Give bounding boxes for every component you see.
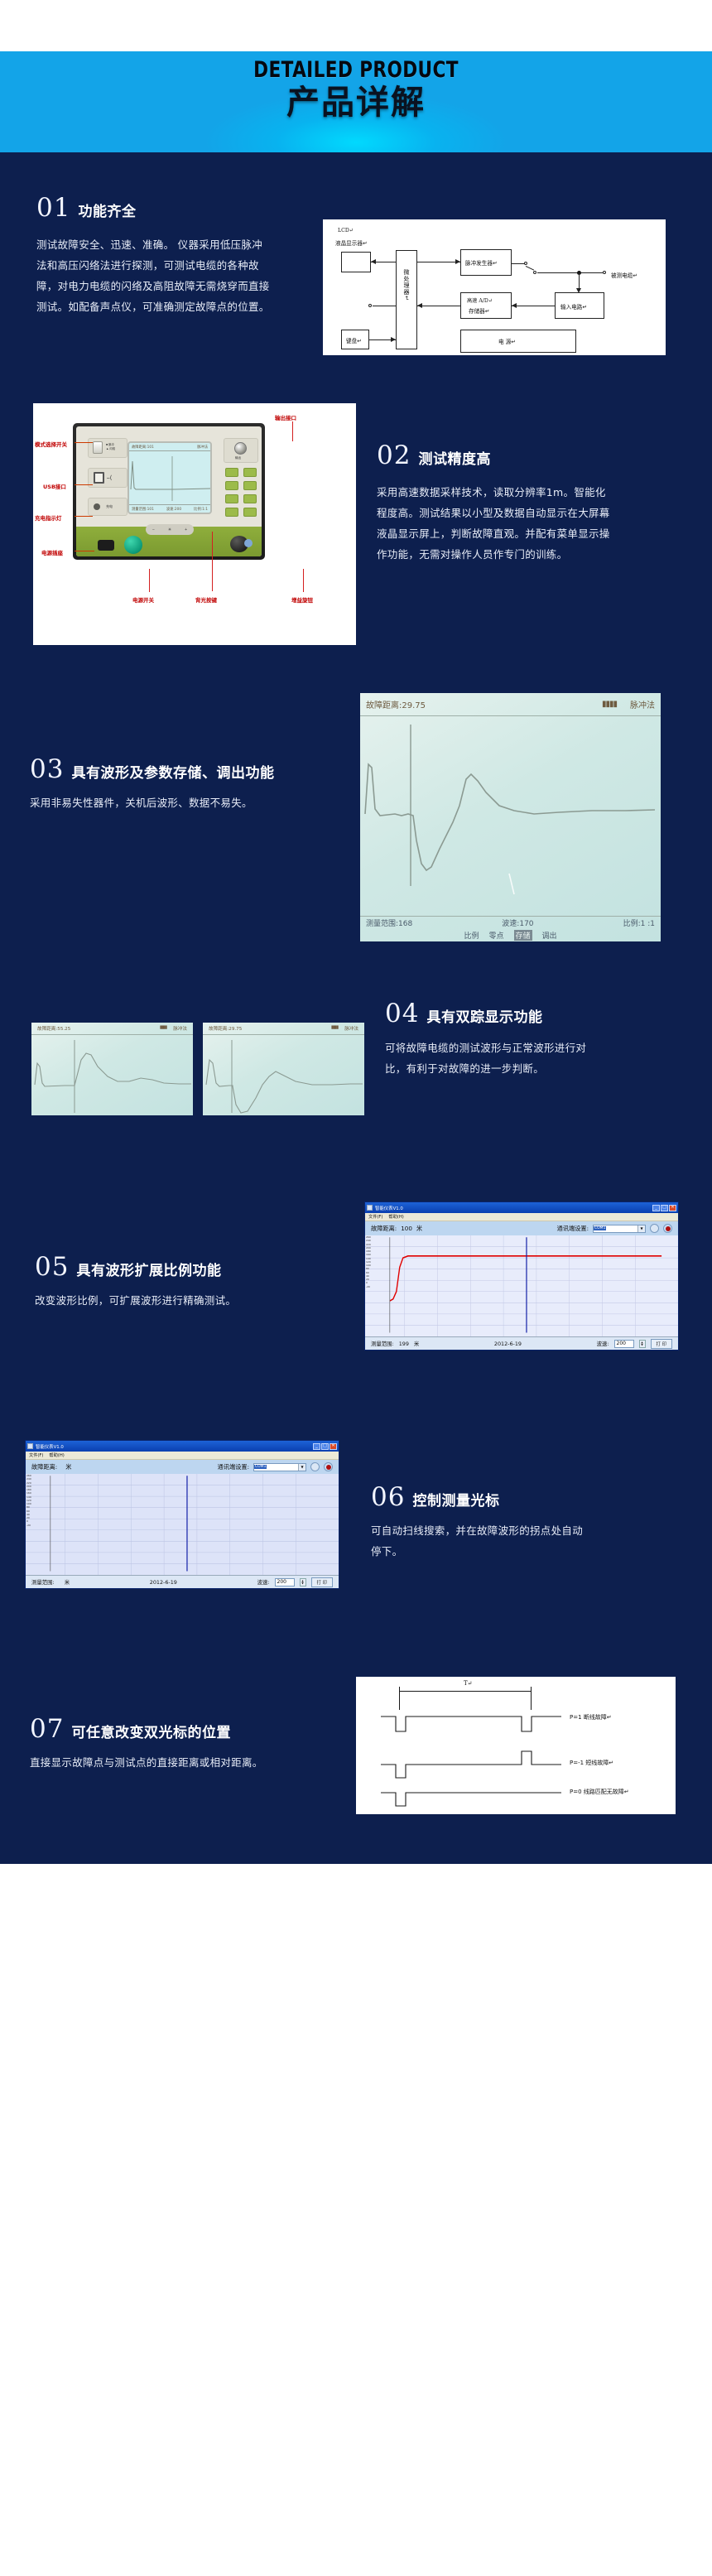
rocker-center-icon: ✳ — [168, 527, 171, 532]
lcd-single-fault: 故障距离:29.75 — [366, 698, 426, 710]
pulse-row-3-label: P=0 线路匹配无故障↵ — [570, 1788, 629, 1796]
section-02-text: 02 测试精度高 采用高速数据采样技术，读取分辨率1m。智能化程度高。测试结果以… — [356, 403, 679, 565]
lcd-single-mode: 脉冲法 — [630, 698, 655, 710]
pulse-row-1-label: P=1 断线故障↵ — [570, 1713, 612, 1721]
window-06-menubar: 文件(F) 帮助(H) — [26, 1452, 339, 1460]
section-05-number: 05 — [35, 1254, 69, 1280]
annotation-charge-led: 充电指示灯 — [35, 513, 62, 522]
section-04-heading: 具有双踪显示功能 — [426, 1011, 542, 1025]
pulse-diagram: T↵ P=1 断线故障↵ — [356, 1677, 676, 1814]
section-03: 03 具有波形及参数存储、调出功能 采用非易失性器件，关机后波形、数据不易失。 … — [0, 645, 712, 941]
window-05-record-button[interactable] — [663, 1224, 672, 1233]
annotation-output-port: 输出接口 — [275, 413, 296, 421]
lcd-dual-right-fault: 故障距离:29.75 — [209, 1025, 242, 1032]
keypad-key-2[interactable] — [243, 468, 257, 477]
window-05-close-button[interactable]: ✕ — [669, 1205, 676, 1211]
lcd-waveform-dual-right: 故障距离:29.75 ▮▮▮▮ 脉冲法 — [203, 1023, 364, 1115]
lcd-single-menu: 比例 零点 存储 调出 — [360, 929, 661, 941]
bd-line-pulsegen-out — [512, 263, 525, 264]
window-06-port-select[interactable]: COM1 ▼ — [253, 1463, 306, 1471]
device-front-panel: ■ 脉冲▲ 闪络 ⎯⟨ 充电 故障距离:101 — [33, 403, 356, 645]
section-03-title-line: 03 具有波形及参数存储、调出功能 — [30, 757, 360, 782]
lcd-dual-right-bars: ▮▮▮▮ — [331, 1025, 338, 1032]
annotation-power-switch: 电源开关 — [132, 595, 154, 604]
device-lcd-fault-text: 故障距离:101 — [132, 445, 154, 449]
window-05-range-unit: 米 — [414, 1340, 419, 1347]
section-01-text: 01 功能齐全 测试故障安全、迅速、准确。 仪器采用低压脉冲法和高压闪络法进行探… — [0, 195, 323, 317]
section-01-body: 测试故障安全、迅速、准确。 仪器采用低压脉冲法和高压闪络法进行探测，可测试电缆的… — [36, 234, 271, 317]
section-02-number: 02 — [377, 443, 411, 469]
annotation-usb-port: USB接口 — [43, 482, 66, 490]
bd-lcd-box — [341, 252, 371, 272]
pulse-trace-row-2 — [356, 1746, 676, 1784]
bd-line-node-to-cable — [580, 272, 603, 273]
section-07-title-line: 07 可任意改变双光标的位置 — [30, 1717, 356, 1742]
section-02: ■ 脉冲▲ 闪络 ⎯⟨ 充电 故障距离:101 — [0, 355, 712, 645]
window-06-status-indicator — [310, 1462, 320, 1471]
section-04-title-line: 04 具有双踪显示功能 — [385, 1001, 691, 1027]
section-05-body: 改变波形比例，可扩展波形进行精确测试。 — [35, 1290, 293, 1311]
bd-arrow-input-circuit — [576, 288, 581, 293]
window-06-controls: _ □ ✕ — [313, 1443, 337, 1450]
section-02-title-line: 02 测试精度高 — [377, 443, 679, 469]
chevron-down-icon-06: ▼ — [298, 1464, 305, 1471]
annotation-line-charge-led — [75, 516, 93, 517]
device-lcd-range: 测量范围:101 — [132, 507, 154, 511]
section-07-body: 直接显示故障点与测试点的直接距离或相对距离。 — [30, 1752, 278, 1773]
annotation-line-power-socket — [75, 551, 94, 551]
window-05-menu-help[interactable]: 帮助(H) — [388, 1214, 403, 1220]
bd-cable-terminal — [603, 271, 606, 274]
product-detail-page: DETAILED PRODUCT 产品详解 01 功能齐全 测试故障安全、迅速、… — [0, 0, 712, 1864]
window-05-toolbar: 故障距离: 100 米 通讯端设置: COM1 ▼ — [365, 1221, 678, 1235]
gain-knob-indicator — [244, 539, 253, 547]
device-lcd-mode: 脉冲法 — [197, 445, 208, 449]
window-06-toolbar: 故障距离: 米 通讯端设置: COM1 ▼ — [26, 1460, 339, 1474]
window-06-range-label: 测量范围: — [31, 1578, 55, 1586]
annotation-backlight-key: 背光按键 — [195, 595, 217, 604]
pulse-t-tick-left — [399, 1687, 400, 1697]
device-lcd-header: 故障距离:101 脉冲法 — [129, 443, 210, 451]
pulse-trace-row-1 — [356, 1707, 676, 1743]
window-05-app-icon — [367, 1205, 373, 1211]
bd-switch-contact-a — [524, 262, 527, 265]
window-05-fault-label: 故障距离: — [371, 1225, 397, 1233]
device-lcd-ratio: 比例:1:1 — [194, 507, 208, 511]
banner-chinese-title: 产品详解 — [0, 86, 712, 119]
lcd-menu-ratio[interactable]: 比例 — [464, 930, 479, 941]
window-05-controls: _ □ ✕ — [652, 1205, 676, 1211]
charge-led — [94, 503, 100, 510]
section-06-number: 06 — [371, 1485, 405, 1510]
annotation-line-output-port — [292, 421, 293, 441]
window-05-y-axis-ticks: 260240220200180160140120100806040200-20 — [366, 1235, 371, 1288]
software-window-06: 智能仪表V1.0 _ □ ✕ 文件(F) 帮助(H) 故 — [25, 1440, 339, 1589]
section-05: 05 具有波形扩展比例功能 改变波形比例，可扩展波形进行精确测试。 智能仪表V1… — [0, 1115, 712, 1351]
bd-line-switch-to-node — [537, 272, 580, 273]
annotation-power-socket: 电源插座 — [41, 548, 63, 556]
window-05-chart — [365, 1235, 678, 1336]
section-05-heading: 具有波形扩展比例功能 — [76, 1264, 221, 1278]
bd-lcd-cn-label: 液晶显示器↵ — [335, 238, 368, 247]
output-port-bnc[interactable] — [234, 442, 247, 455]
bd-arrow-cpu — [417, 303, 422, 308]
bd-cpu-label: 微处理器↵ — [402, 269, 411, 301]
charge-led-caption: 充电 — [106, 504, 113, 509]
section-07-heading: 可任意改变双光标的位置 — [71, 1726, 231, 1741]
bd-line-input-to-adc — [512, 306, 555, 306]
bd-keyboard-label: 键盘↵ — [346, 336, 362, 344]
bd-line-cpu-to-pulsegen — [417, 262, 460, 262]
window-06-record-button[interactable] — [324, 1462, 333, 1471]
window-06-date: 2012-6-19 — [150, 1579, 177, 1586]
section-06-body: 可自动扫线搜索，并在故障波形的拐点处自动停下。 — [371, 1520, 588, 1562]
usb-port-connector[interactable] — [94, 472, 104, 484]
window-06-y-axis-ticks: 260240220200180160140120100806040200-20 — [26, 1474, 31, 1527]
annotation-gain-knob: 增益旋钮 — [291, 595, 313, 604]
annotation-line-gain-knob — [303, 569, 304, 592]
window-06-speed-input[interactable]: 200 — [275, 1578, 295, 1587]
bd-line-cpu-left-stub — [373, 306, 396, 306]
window-05-print-button[interactable]: 打 印 — [651, 1339, 673, 1349]
software-window-05-wrap: 智能仪表V1.0 _ □ ✕ 文件(F) 帮助(H) 故 — [364, 1201, 679, 1351]
lcd-single: 故障距离:29.75 ▮▮▮▮ 脉冲法 — [360, 693, 661, 941]
bd-arrow-lcd — [371, 259, 376, 264]
bd-arrow-pulsegen — [455, 259, 460, 264]
window-06-titlebar[interactable]: 智能仪表V1.0 _ □ ✕ — [26, 1441, 339, 1452]
window-06-fault-unit: 米 — [65, 1463, 71, 1471]
window-05-menu-file[interactable]: 文件(F) — [368, 1214, 382, 1220]
lcd-single-waveform-chart — [360, 716, 661, 907]
section-06-heading: 控制测量光标 — [412, 1495, 499, 1509]
window-05-title: 智能仪表V1.0 — [375, 1205, 403, 1211]
lcd-waveform-single: 故障距离:29.75 ▮▮▮▮ 脉冲法 — [360, 693, 661, 941]
section-01: 01 功能齐全 测试故障安全、迅速、准确。 仪器采用低压脉冲法和高压闪络法进行探… — [0, 152, 712, 355]
window-05-port-label: 通讯端设置: — [557, 1225, 589, 1233]
window-05-fault-unit: 米 — [416, 1225, 422, 1233]
window-05-date: 2012-6-19 — [494, 1341, 522, 1347]
bd-pulsegen-label: 脉冲发生器↵ — [465, 258, 498, 267]
bd-line-adc-to-cpu — [417, 306, 460, 306]
keypad-key-1[interactable] — [225, 468, 238, 477]
window-06-plot-area[interactable]: 260240220200180160140120100806040200-20 — [26, 1474, 339, 1575]
device-lcd-waveform — [129, 451, 212, 508]
pulse-t-arrow-line — [399, 1691, 532, 1692]
keypad-key-5[interactable] — [225, 494, 238, 503]
lcd-dual-left: 故障距离:55.25 ▮▮▮▮ 脉冲法 — [31, 1023, 193, 1115]
power-socket[interactable] — [98, 540, 114, 551]
window-05-minimize-button[interactable]: _ — [652, 1205, 660, 1211]
window-06-menu-file[interactable]: 文件(F) — [29, 1452, 43, 1458]
section-05-title-line: 05 具有波形扩展比例功能 — [35, 1254, 364, 1280]
keypad-key-4[interactable] — [243, 481, 257, 490]
device-lcd-speed: 波速:200 — [166, 507, 181, 511]
bd-input-circuit-label: 输入电路↵ — [560, 302, 587, 311]
window-05-maximize-button[interactable]: □ — [661, 1205, 668, 1211]
bd-power-box — [460, 330, 576, 353]
output-port-caption: 输出 — [235, 456, 241, 460]
section-04-text: 04 具有双踪显示功能 可将故障电缆的测试波形与正常波形进行对比，有利于对故障的… — [364, 1001, 691, 1079]
window-06-port-label: 通讯端设置: — [218, 1463, 249, 1471]
annotation-line-usb-port — [75, 484, 93, 485]
section-07-number: 07 — [30, 1717, 64, 1742]
lcd-dual-right-mode: 脉冲法 — [344, 1025, 358, 1032]
bd-adc-label-2: 存储器↵ — [469, 306, 489, 315]
lcd-dual-right-waveform — [203, 1035, 364, 1115]
window-05-port-select[interactable]: COM1 ▼ — [593, 1225, 646, 1233]
bd-switch-blade — [526, 266, 534, 271]
window-06-title: 智能仪表V1.0 — [36, 1443, 64, 1450]
keypad-key-7[interactable] — [225, 508, 238, 517]
top-white-strip — [0, 0, 712, 51]
lcd-dual-left-fault: 故障距离:55.25 — [37, 1025, 70, 1032]
window-06-app-icon — [27, 1443, 33, 1449]
usb-icon: ⎯⟨ — [107, 475, 112, 481]
window-05-fault-value: 100 — [401, 1225, 412, 1232]
block-diagram: LCD↵ 液晶显示器↵ 微处理器↵ 脉冲发生器↵ 高速 A/D↵ 存储器↵ 输入… — [323, 219, 666, 355]
annotation-mode-switch: 模式选择开关 — [35, 440, 67, 448]
window-06-print-button[interactable]: 打 印 — [311, 1577, 334, 1587]
window-05-port-value: COM1 — [594, 1226, 606, 1230]
lcd-single-params: 测量范围:168 波速:170 比例:1 :1 — [360, 917, 661, 929]
software-window-06-wrap: 智能仪表V1.0 _ □ ✕ 文件(F) 帮助(H) 故 — [25, 1440, 339, 1589]
bd-cable-label: 被测电缆↵ — [611, 271, 637, 279]
bd-line-node-down — [579, 272, 580, 289]
chevron-down-icon: ▼ — [637, 1225, 645, 1232]
section-06-text: 06 控制测量光标 可自动扫线搜索，并在故障波形的拐点处自动停下。 — [339, 1440, 712, 1562]
keypad-key-6[interactable] — [243, 494, 257, 503]
window-05-range-value: 199 — [399, 1341, 409, 1347]
lcd-single-footer: 测量范围:168 波速:170 比例:1 :1 比例 零点 存储 调出 — [360, 916, 661, 941]
window-05-statusbar: 测量范围: 199 米 2012-6-19 波速: 200 ▲▼ 打 印 — [365, 1336, 678, 1350]
window-06-speed-label: 波速: — [257, 1578, 270, 1586]
window-05-plot-area[interactable]: 260240220200180160140120100806040200-20 — [365, 1235, 678, 1336]
bd-arrow-adc — [512, 303, 517, 308]
device-lcd-screen: 故障距离:101 脉冲法 测量范围:101 — [127, 441, 212, 514]
window-05-speed-label: 波速: — [597, 1340, 609, 1347]
bd-lcd-en-label: LCD↵ — [338, 228, 354, 234]
lcd-waveform-dual-left: 故障距离:55.25 ▮▮▮▮ 脉冲法 — [31, 1023, 193, 1115]
lcd-menu-store[interactable]: 存储 — [514, 930, 532, 941]
lcd-single-signal-bars: ▮▮▮▮ — [602, 700, 617, 709]
section-04-body: 可将故障电缆的测试波形与正常波形进行对比，有利于对故障的进一步判断。 — [385, 1038, 602, 1079]
mode-switch-toggle[interactable] — [93, 441, 103, 454]
section-07: 07 可任意改变双光标的位置 直接显示故障点与测试点的直接距离或相对距离。 T↵ — [0, 1589, 712, 1814]
section-03-heading: 具有波形及参数存储、调出功能 — [71, 767, 274, 781]
rocker-minus-icon: − — [152, 527, 155, 532]
section-01-heading: 功能齐全 — [78, 205, 136, 219]
section-03-text: 03 具有波形及参数存储、调出功能 采用非易失性器件，关机后波形、数据不易失。 — [0, 710, 360, 813]
pulse-t-tick-right — [531, 1687, 532, 1697]
bd-arrow-cpu-kb — [391, 337, 396, 342]
window-06-chart — [26, 1474, 339, 1575]
annotation-line-mode-switch — [75, 442, 93, 443]
record-dot-icon-06 — [326, 1465, 331, 1470]
section-03-body: 采用非易失性器件，关机后波形、数据不易失。 — [30, 792, 344, 813]
section-03-number: 03 — [30, 757, 64, 782]
pulse-row-2-label: P=-1 短线故障↵ — [570, 1759, 613, 1767]
lcd-single-header: 故障距离:29.75 ▮▮▮▮ 脉冲法 — [360, 693, 661, 716]
keypad-key-3[interactable] — [225, 481, 238, 490]
lcd-dual-right: 故障距离:29.75 ▮▮▮▮ 脉冲法 — [203, 1023, 364, 1115]
annotation-line-power-switch — [149, 569, 150, 592]
bd-cpu-left-terminal — [368, 304, 372, 307]
rocker-plus-icon: + — [185, 527, 187, 532]
bd-adc-label-1: 高速 A/D↵ — [467, 296, 493, 304]
keypad-key-8[interactable] — [243, 508, 257, 517]
lcd-single-ratio: 比例:1 :1 — [623, 917, 655, 928]
window-05-status-indicator — [650, 1224, 659, 1233]
section-05-text: 05 具有波形扩展比例功能 改变波形比例，可扩展波形进行精确测试。 — [0, 1208, 364, 1311]
device-faceplate: ■ 脉冲▲ 闪络 ⎯⟨ 充电 故障距离:101 — [76, 426, 262, 556]
window-06-maximize-button[interactable]: □ — [321, 1443, 329, 1450]
block-diagram-image: LCD↵ 液晶显示器↵ 微处理器↵ 脉冲发生器↵ 高速 A/D↵ 存储器↵ 输入… — [323, 219, 666, 355]
window-06-fault-label: 故障距离: — [31, 1463, 57, 1471]
power-switch-button[interactable] — [124, 536, 142, 554]
lcd-menu-recall[interactable]: 调出 — [542, 930, 557, 941]
mode-switch-captions: ■ 脉冲▲ 闪络 — [106, 443, 115, 451]
window-05-speed-spinner[interactable]: ▲▼ — [639, 1340, 646, 1348]
section-07-text: 07 可任意改变双光标的位置 直接显示故障点与测试点的直接距离或相对距离。 — [0, 1687, 356, 1773]
section-04: 故障距离:55.25 ▮▮▮▮ 脉冲法 — [0, 941, 712, 1115]
section-02-heading: 测试精度高 — [418, 453, 491, 467]
annotation-line-backlight-key — [212, 532, 213, 591]
window-05-titlebar[interactable]: 智能仪表V1.0 _ □ ✕ — [365, 1202, 678, 1213]
window-05-menubar: 文件(F) 帮助(H) — [365, 1213, 678, 1221]
device-lcd-footer: 测量范围:101 波速:200 比例:1:1 — [129, 504, 210, 513]
window-06-minimize-button[interactable]: _ — [313, 1443, 320, 1450]
window-06-range-unit: 米 — [65, 1578, 70, 1586]
section-04-number: 04 — [385, 1001, 419, 1027]
banner-english-title: DETAILED PRODUCT — [71, 51, 641, 83]
page-banner: DETAILED PRODUCT 产品详解 — [0, 51, 712, 152]
section-06: 智能仪表V1.0 _ □ ✕ 文件(F) 帮助(H) 故 — [0, 1351, 712, 1589]
section-06-title-line: 06 控制测量光标 — [371, 1485, 712, 1510]
window-06-statusbar: 测量范围: 米 2012-6-19 波速: 200 ▲▼ 打 印 — [26, 1575, 339, 1588]
backlight-rocker[interactable]: − ✳ + — [146, 524, 194, 535]
lcd-dual-left-mode: 脉冲法 — [173, 1025, 187, 1032]
device-chassis: ■ 脉冲▲ 闪络 ⎯⟨ 充电 故障距离:101 — [73, 423, 265, 560]
section-01-number: 01 — [36, 195, 70, 221]
lcd-dual-left-bars: ▮▮▮▮ — [160, 1025, 166, 1032]
pulse-diagram-image: T↵ P=1 断线故障↵ — [356, 1677, 676, 1814]
dual-waveform-group: 故障距离:55.25 ▮▮▮▮ 脉冲法 — [31, 1023, 364, 1115]
content-area: 01 功能齐全 测试故障安全、迅速、准确。 仪器采用低压脉冲法和高压闪络法进行探… — [0, 152, 712, 1864]
window-05-range-label: 测量范围: — [371, 1340, 394, 1347]
bd-switch-contact-b — [533, 271, 536, 274]
software-window-05: 智能仪表V1.0 _ □ ✕ 文件(F) 帮助(H) 故 — [364, 1201, 679, 1351]
lcd-dual-left-waveform — [31, 1035, 193, 1115]
section-01-title-line: 01 功能齐全 — [36, 195, 323, 221]
lcd-menu-zero[interactable]: 零点 — [488, 930, 503, 941]
section-02-body: 采用高速数据采样技术，读取分辨率1m。智能化程度高。测试结果以小型及数据自动显示… — [377, 482, 610, 565]
window-06-speed-spinner[interactable]: ▲▼ — [300, 1578, 306, 1587]
window-06-port-value: COM1 — [254, 1465, 267, 1469]
window-05-speed-input[interactable]: 200 — [614, 1340, 634, 1348]
lcd-single-speed: 波速:170 — [502, 917, 533, 928]
lcd-single-range: 测量范围:168 — [366, 917, 412, 928]
pulse-diagram-t-label: T↵ — [464, 1680, 473, 1687]
device-photo: ■ 脉冲▲ 闪络 ⎯⟨ 充电 故障距离:101 — [33, 403, 356, 645]
lcd-dual-left-header: 故障距离:55.25 ▮▮▮▮ 脉冲法 — [31, 1023, 193, 1035]
window-06-menu-help[interactable]: 帮助(H) — [49, 1452, 64, 1458]
record-dot-icon — [666, 1226, 671, 1231]
window-06-close-button[interactable]: ✕ — [330, 1443, 337, 1450]
lcd-dual-right-header: 故障距离:29.75 ▮▮▮▮ 脉冲法 — [203, 1023, 364, 1035]
bd-power-label: 电 源↵ — [498, 337, 516, 345]
